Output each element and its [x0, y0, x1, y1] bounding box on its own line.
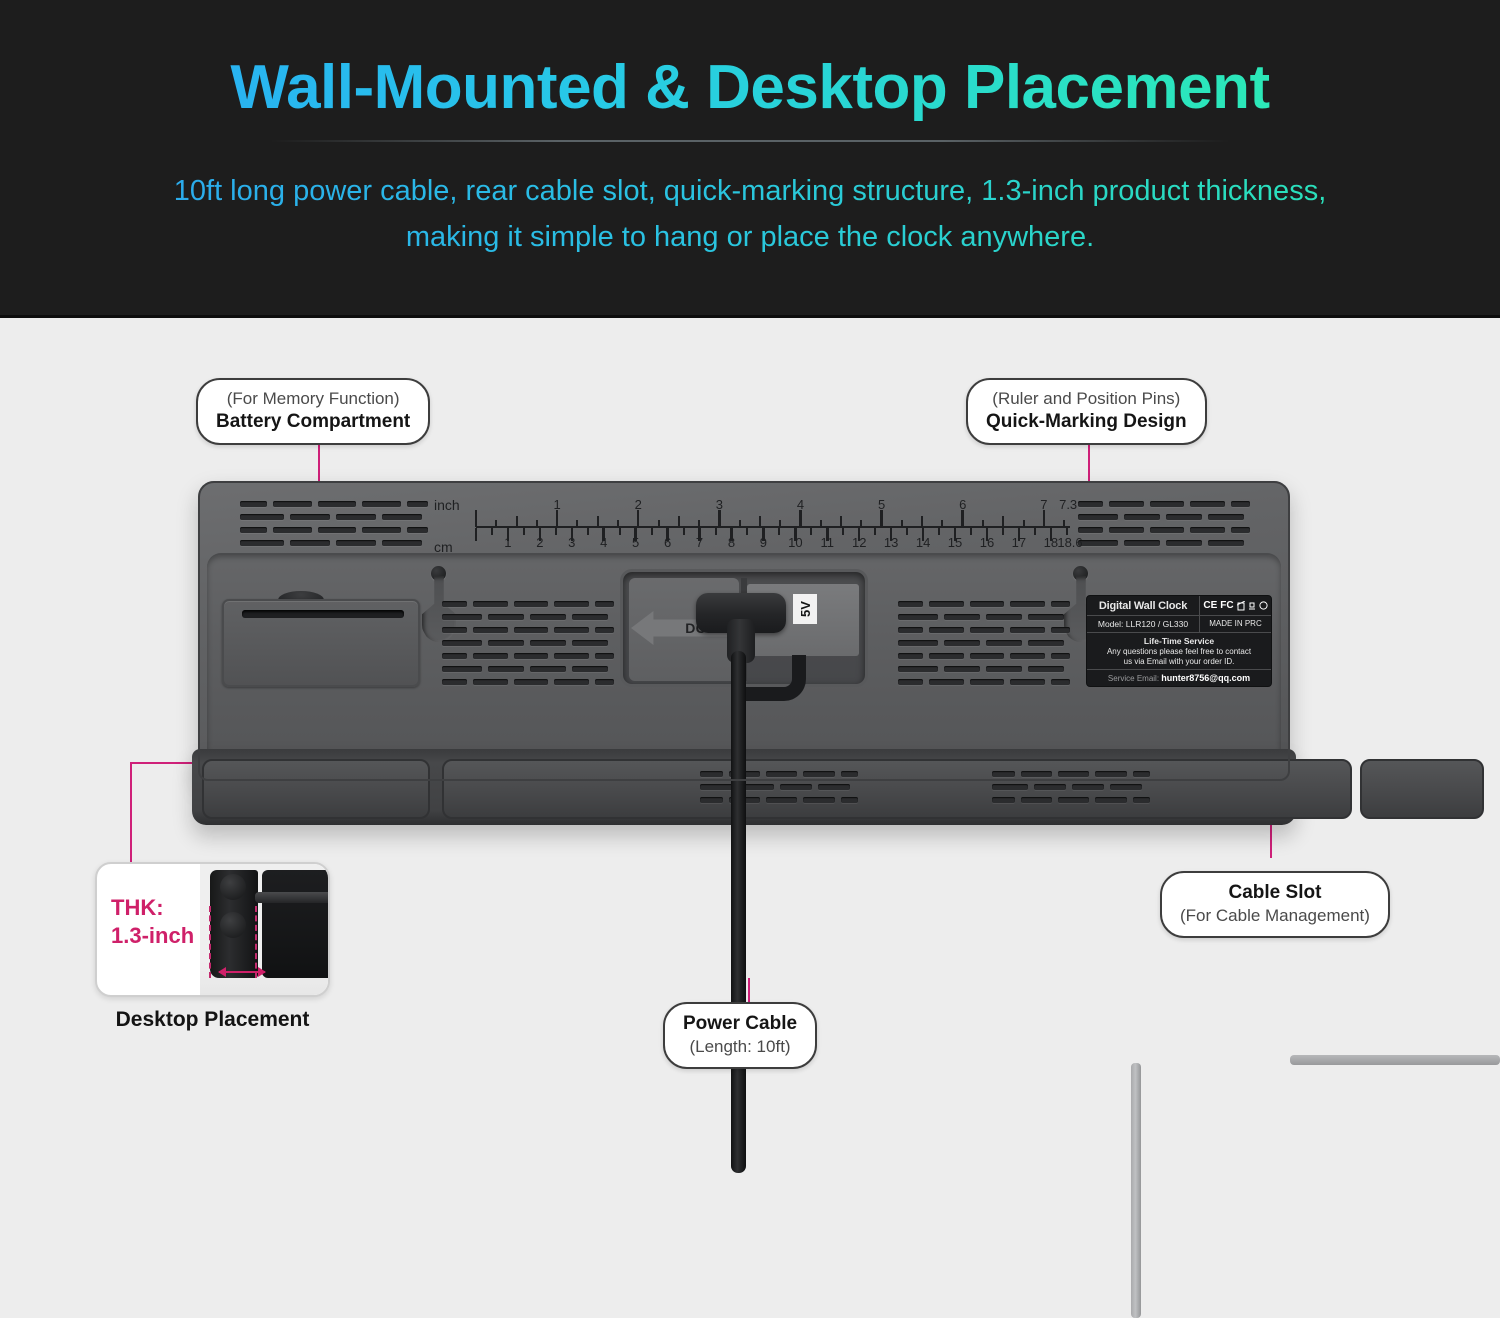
ruler-cm-number: 13: [877, 535, 905, 550]
vent-base-right: [992, 771, 1150, 811]
ruler-inch-number: 5: [868, 497, 896, 512]
service-email-row: Service Email: hunter8756@qq.com: [1087, 670, 1271, 686]
ruler-tick-inch: [901, 520, 903, 527]
callout-battery-compartment[interactable]: (For Memory Function) Battery Compartmen…: [196, 378, 430, 445]
header-banner: Wall-Mounted & Desktop Placement 10ft lo…: [0, 0, 1500, 318]
ruler-tick-cm: [683, 528, 685, 535]
thickness-guide-right: [255, 906, 257, 978]
base-segment-left: [202, 759, 430, 819]
ruler-inch-number: 2: [624, 497, 652, 512]
vent-top-right: [1078, 501, 1250, 559]
ruler-inch-number: 7.3: [1054, 497, 1082, 512]
ruler-cm-number: 18.6: [1056, 535, 1084, 550]
service-line-2: us via Email with your order ID.: [1124, 657, 1235, 666]
ruler-cm-number: 3: [558, 535, 586, 550]
ruler-cm-number: 5: [622, 535, 650, 550]
desktop-placement-caption: Desktop Placement: [95, 1008, 330, 1032]
ruler-cm-number: 17: [1005, 535, 1033, 550]
gray-cable-vertical: [1131, 1063, 1141, 1318]
label-row-name: Digital Wall Clock CE FC: [1087, 596, 1271, 616]
ruler-tick-inch: [576, 520, 578, 527]
ruler-tick-cm: [651, 528, 653, 535]
device-front-face: [262, 870, 330, 978]
ruler-tick-cm: [842, 528, 844, 535]
ruler-tick-inch: [516, 516, 518, 527]
callout-quickmark-main: Quick-Marking Design: [986, 410, 1187, 434]
product-stage: inch cm 12345677.3 123456789101112131415…: [0, 318, 1500, 1125]
clock-rear-view: inch cm 12345677.3 123456789101112131415…: [198, 481, 1290, 801]
ruler-tick-inch: [982, 520, 984, 527]
ruler-tick-cm: [523, 528, 525, 535]
ce-mark-icon: CE: [1203, 600, 1217, 611]
device-top-bar: [255, 892, 330, 903]
leader-thickness-h: [130, 762, 200, 764]
ruler-tick-cm: [938, 528, 940, 535]
service-block: Life-Time Service Any questions please f…: [1087, 633, 1271, 670]
ruler-cm-number: 8: [717, 535, 745, 550]
page-title: Wall-Mounted & Desktop Placement: [0, 52, 1500, 123]
subtitle-line-2: making it simple to hang or place the cl…: [406, 221, 1094, 253]
ruler-tick-inch: [698, 520, 700, 527]
ruler-cm-number: 16: [973, 535, 1001, 550]
product-name: Digital Wall Clock: [1087, 596, 1199, 615]
thickness-label: THK:: [111, 895, 164, 920]
ruler-tick-inch: [597, 516, 599, 527]
vent-mid-right: [898, 601, 1070, 693]
base-segment-center: [442, 759, 1352, 819]
ruler-tick-inch: [759, 516, 761, 527]
ruler-cm-number: 14: [909, 535, 937, 550]
ruler-inch-number: 3: [705, 497, 733, 512]
ruler-tick-cm: [587, 528, 589, 535]
service-email-label: Service Email:: [1108, 674, 1159, 683]
vent-mid-left: [442, 601, 614, 693]
ruler-cm-number: 6: [654, 535, 682, 550]
ruler-cm-number: 9: [749, 535, 777, 550]
ruler-tick-inch: [536, 520, 538, 527]
callout-battery-main: Battery Compartment: [216, 410, 410, 434]
ruler-cm-number: 1: [494, 535, 522, 550]
ruler-inch-number: 4: [786, 497, 814, 512]
measuring-ruler: inch cm 12345677.3 123456789101112131415…: [434, 497, 1070, 555]
thickness-inset-card: THK: 1.3-inch: [95, 862, 330, 997]
side-button-bottom-icon: [220, 912, 246, 938]
ruler-tick-cm: [778, 528, 780, 535]
product-spec-label: Digital Wall Clock CE FC Model: LLR120 /…: [1086, 595, 1272, 687]
ruler-tick-cm: [746, 528, 748, 535]
ruler-tick-inch: [840, 516, 842, 527]
ruler-tick-cm: [715, 528, 717, 535]
ruler-tick-inch: [1023, 520, 1025, 527]
callout-quick-marking[interactable]: (Ruler and Position Pins) Quick-Marking …: [966, 378, 1207, 445]
title-divider: [270, 140, 1230, 142]
ruler-tick-cm: [1034, 528, 1036, 535]
ruler-inch-number: 1: [543, 497, 571, 512]
callout-powercable-sub: (Length: 10ft): [683, 1036, 797, 1058]
ruler-inch-number: 6: [949, 497, 977, 512]
weee-bin-icon: [1237, 601, 1245, 611]
ruler-cm-number: 12: [845, 535, 873, 550]
ruler-tick-inch: [617, 520, 619, 527]
ruler-tick-inch: [739, 520, 741, 527]
cable-routing-hook: [746, 655, 806, 701]
ruler-tick-inch: [860, 520, 862, 527]
leader-thickness-v: [130, 762, 132, 862]
certification-icons: CE FC: [1199, 596, 1271, 615]
ruler-tick-inch: [779, 520, 781, 527]
ruler-tick-cm: [810, 528, 812, 535]
ruler-tick-cm: [619, 528, 621, 535]
ruler-tick-inch: [1063, 520, 1065, 527]
ruler-cm-number: 4: [590, 535, 618, 550]
callout-power-cable[interactable]: Power Cable (Length: 10ft): [663, 1002, 817, 1069]
ruler-inch-numbers: 12345677.3: [434, 497, 1070, 517]
ruler-tick-inch: [820, 520, 822, 527]
service-title: Life-Time Service: [1144, 636, 1214, 646]
ruler-cm-numbers: 12345678910111213141516171818.6: [434, 535, 1070, 555]
label-row-model: Model: LLR120 / GL330 MADE IN PRC: [1087, 616, 1271, 633]
product-model: Model: LLR120 / GL330: [1087, 616, 1199, 632]
side-button-top-icon: [220, 874, 246, 900]
power-cable: [731, 651, 746, 1173]
callout-quickmark-sub: (Ruler and Position Pins): [986, 388, 1187, 410]
tested-mark-icon: [1248, 601, 1256, 611]
battery-compartment-door[interactable]: [222, 599, 420, 687]
recycle-mark-icon: [1259, 601, 1268, 610]
plug-voltage-tag: 5V: [793, 594, 817, 624]
ruler-tick-cm: [874, 528, 876, 535]
thickness-side-photo: [200, 864, 328, 997]
ruler-tick-inch: [921, 516, 923, 527]
gray-cable-horizontal: [1290, 1055, 1500, 1065]
subtitle-line-1: 10ft long power cable, rear cable slot, …: [174, 175, 1327, 207]
ruler-tick-inch: [941, 520, 943, 527]
page-subtitle: 10ft long power cable, rear cable slot, …: [0, 168, 1500, 260]
service-line-1: Any questions please feel free to contac…: [1107, 647, 1251, 656]
fcc-mark-icon: FC: [1220, 600, 1233, 611]
ruler-cm-number: 15: [941, 535, 969, 550]
ruler-cm-number: 11: [813, 535, 841, 550]
callout-cableslot-main: Cable Slot: [1180, 881, 1370, 905]
callout-powercable-main: Power Cable: [683, 1012, 797, 1036]
service-email-value: hunter8756@qq.com: [1161, 673, 1250, 683]
thickness-guide-left: [209, 906, 211, 978]
ruler-cm-number: 7: [686, 535, 714, 550]
ruler-tick-inch: [678, 516, 680, 527]
ruler-tick-cm: [906, 528, 908, 535]
battery-door-groove: [242, 610, 404, 618]
callout-cableslot-sub: (For Cable Management): [1180, 905, 1370, 927]
ruler-tick-cm: [491, 528, 493, 535]
ruler-tick-inch: [495, 520, 497, 527]
ruler-tick-inch: [1002, 516, 1004, 527]
ruler-cm-number: 10: [781, 535, 809, 550]
callout-cable-slot[interactable]: Cable Slot (For Cable Management): [1160, 871, 1390, 938]
ruler-tick-cm: [1002, 528, 1004, 535]
thickness-dimension-arrow: [219, 971, 265, 973]
vent-top-left: [240, 501, 428, 559]
ruler-tick-cm: [555, 528, 557, 535]
ruler-tick-cm: [1066, 528, 1068, 535]
ruler-tick-cm: [970, 528, 972, 535]
base-segment-right: [1360, 759, 1484, 819]
callout-battery-sub: (For Memory Function): [216, 388, 410, 410]
ruler-tick-inch: [658, 520, 660, 527]
ruler-cm-number: 2: [526, 535, 554, 550]
thickness-measure: 1.3-inch: [111, 923, 194, 948]
thickness-value: THK: 1.3-inch: [111, 894, 194, 950]
vent-base-left: [700, 771, 858, 811]
product-origin: MADE IN PRC: [1199, 616, 1271, 632]
